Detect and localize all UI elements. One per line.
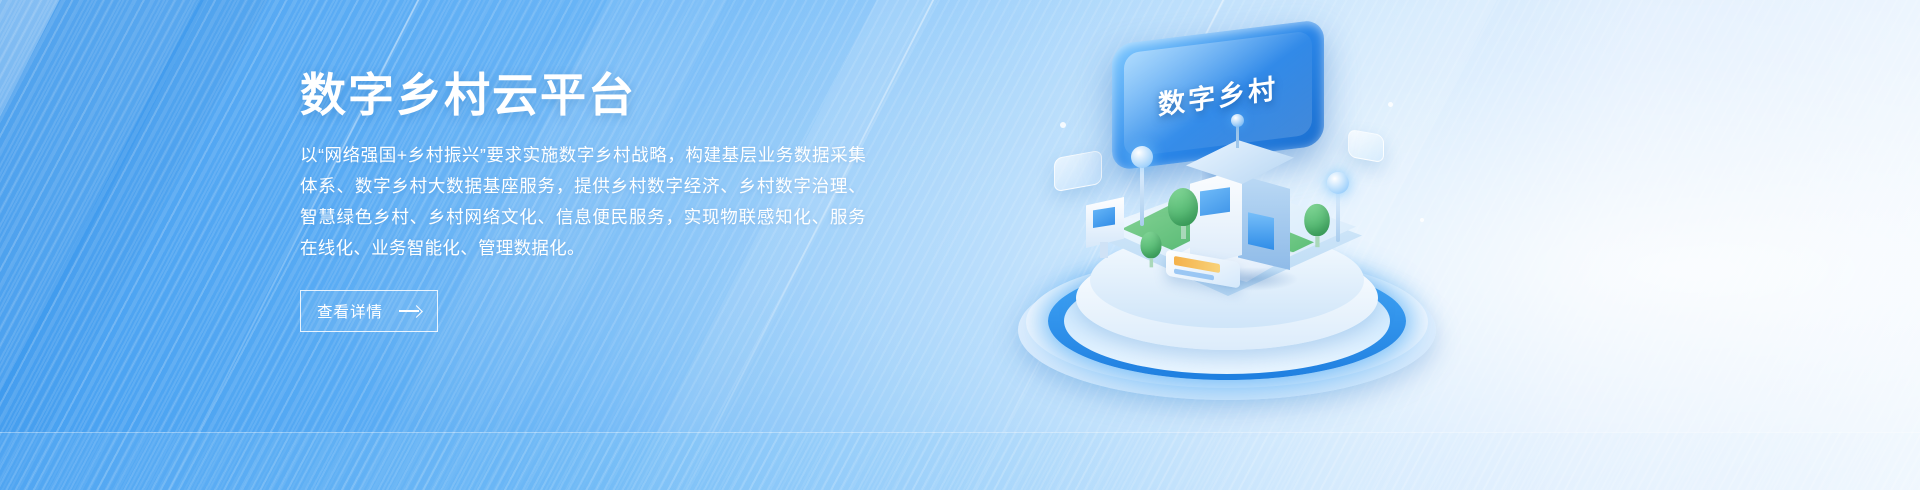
sparkle-1 xyxy=(1060,122,1066,128)
view-details-label: 查看详情 xyxy=(317,300,383,322)
tree-trunk xyxy=(1181,226,1186,239)
street-lamp-1 xyxy=(1140,160,1144,226)
floating-card-right xyxy=(1348,129,1384,163)
street-lamp-light-2 xyxy=(1327,172,1349,194)
tree-crown xyxy=(1304,204,1330,236)
hero-banner: 数字乡村云平台 以“网络强国+乡村振兴”要求实施数字乡村战略，构建基层业务数据采… xyxy=(0,0,1920,490)
sparkle-2 xyxy=(1388,102,1393,107)
tree-2 xyxy=(1304,204,1330,247)
hero-content: 数字乡村云平台 以“网络强国+乡村振兴”要求实施数字乡村战略，构建基层业务数据采… xyxy=(300,68,900,332)
tree-crown xyxy=(1141,232,1162,259)
tree-trunk xyxy=(1315,236,1319,247)
info-kiosk-leg xyxy=(1100,242,1108,258)
view-details-button[interactable]: 查看详情 xyxy=(300,290,438,332)
tree-1 xyxy=(1168,188,1198,239)
tree-3 xyxy=(1141,232,1162,268)
hero-description: 以“网络强国+乡村振兴”要求实施数字乡村战略，构建基层业务数据采集体系、数字乡村… xyxy=(300,140,866,264)
bottom-band xyxy=(0,432,1920,490)
street-lamp-light-1 xyxy=(1131,146,1153,168)
page-title: 数字乡村云平台 xyxy=(300,68,900,122)
bottom-band-stripes xyxy=(0,432,1920,490)
tree-trunk xyxy=(1149,258,1153,267)
floating-card-left xyxy=(1054,150,1102,192)
digital-village-3d-illustration: 数字乡村 xyxy=(990,10,1460,450)
building-antenna-light xyxy=(1231,114,1244,127)
street-lamp-2 xyxy=(1336,186,1340,242)
sparkle-3 xyxy=(1420,218,1424,222)
tree-crown xyxy=(1168,188,1198,226)
bottom-band-edge xyxy=(0,432,1920,433)
arrow-right-icon xyxy=(399,305,421,317)
